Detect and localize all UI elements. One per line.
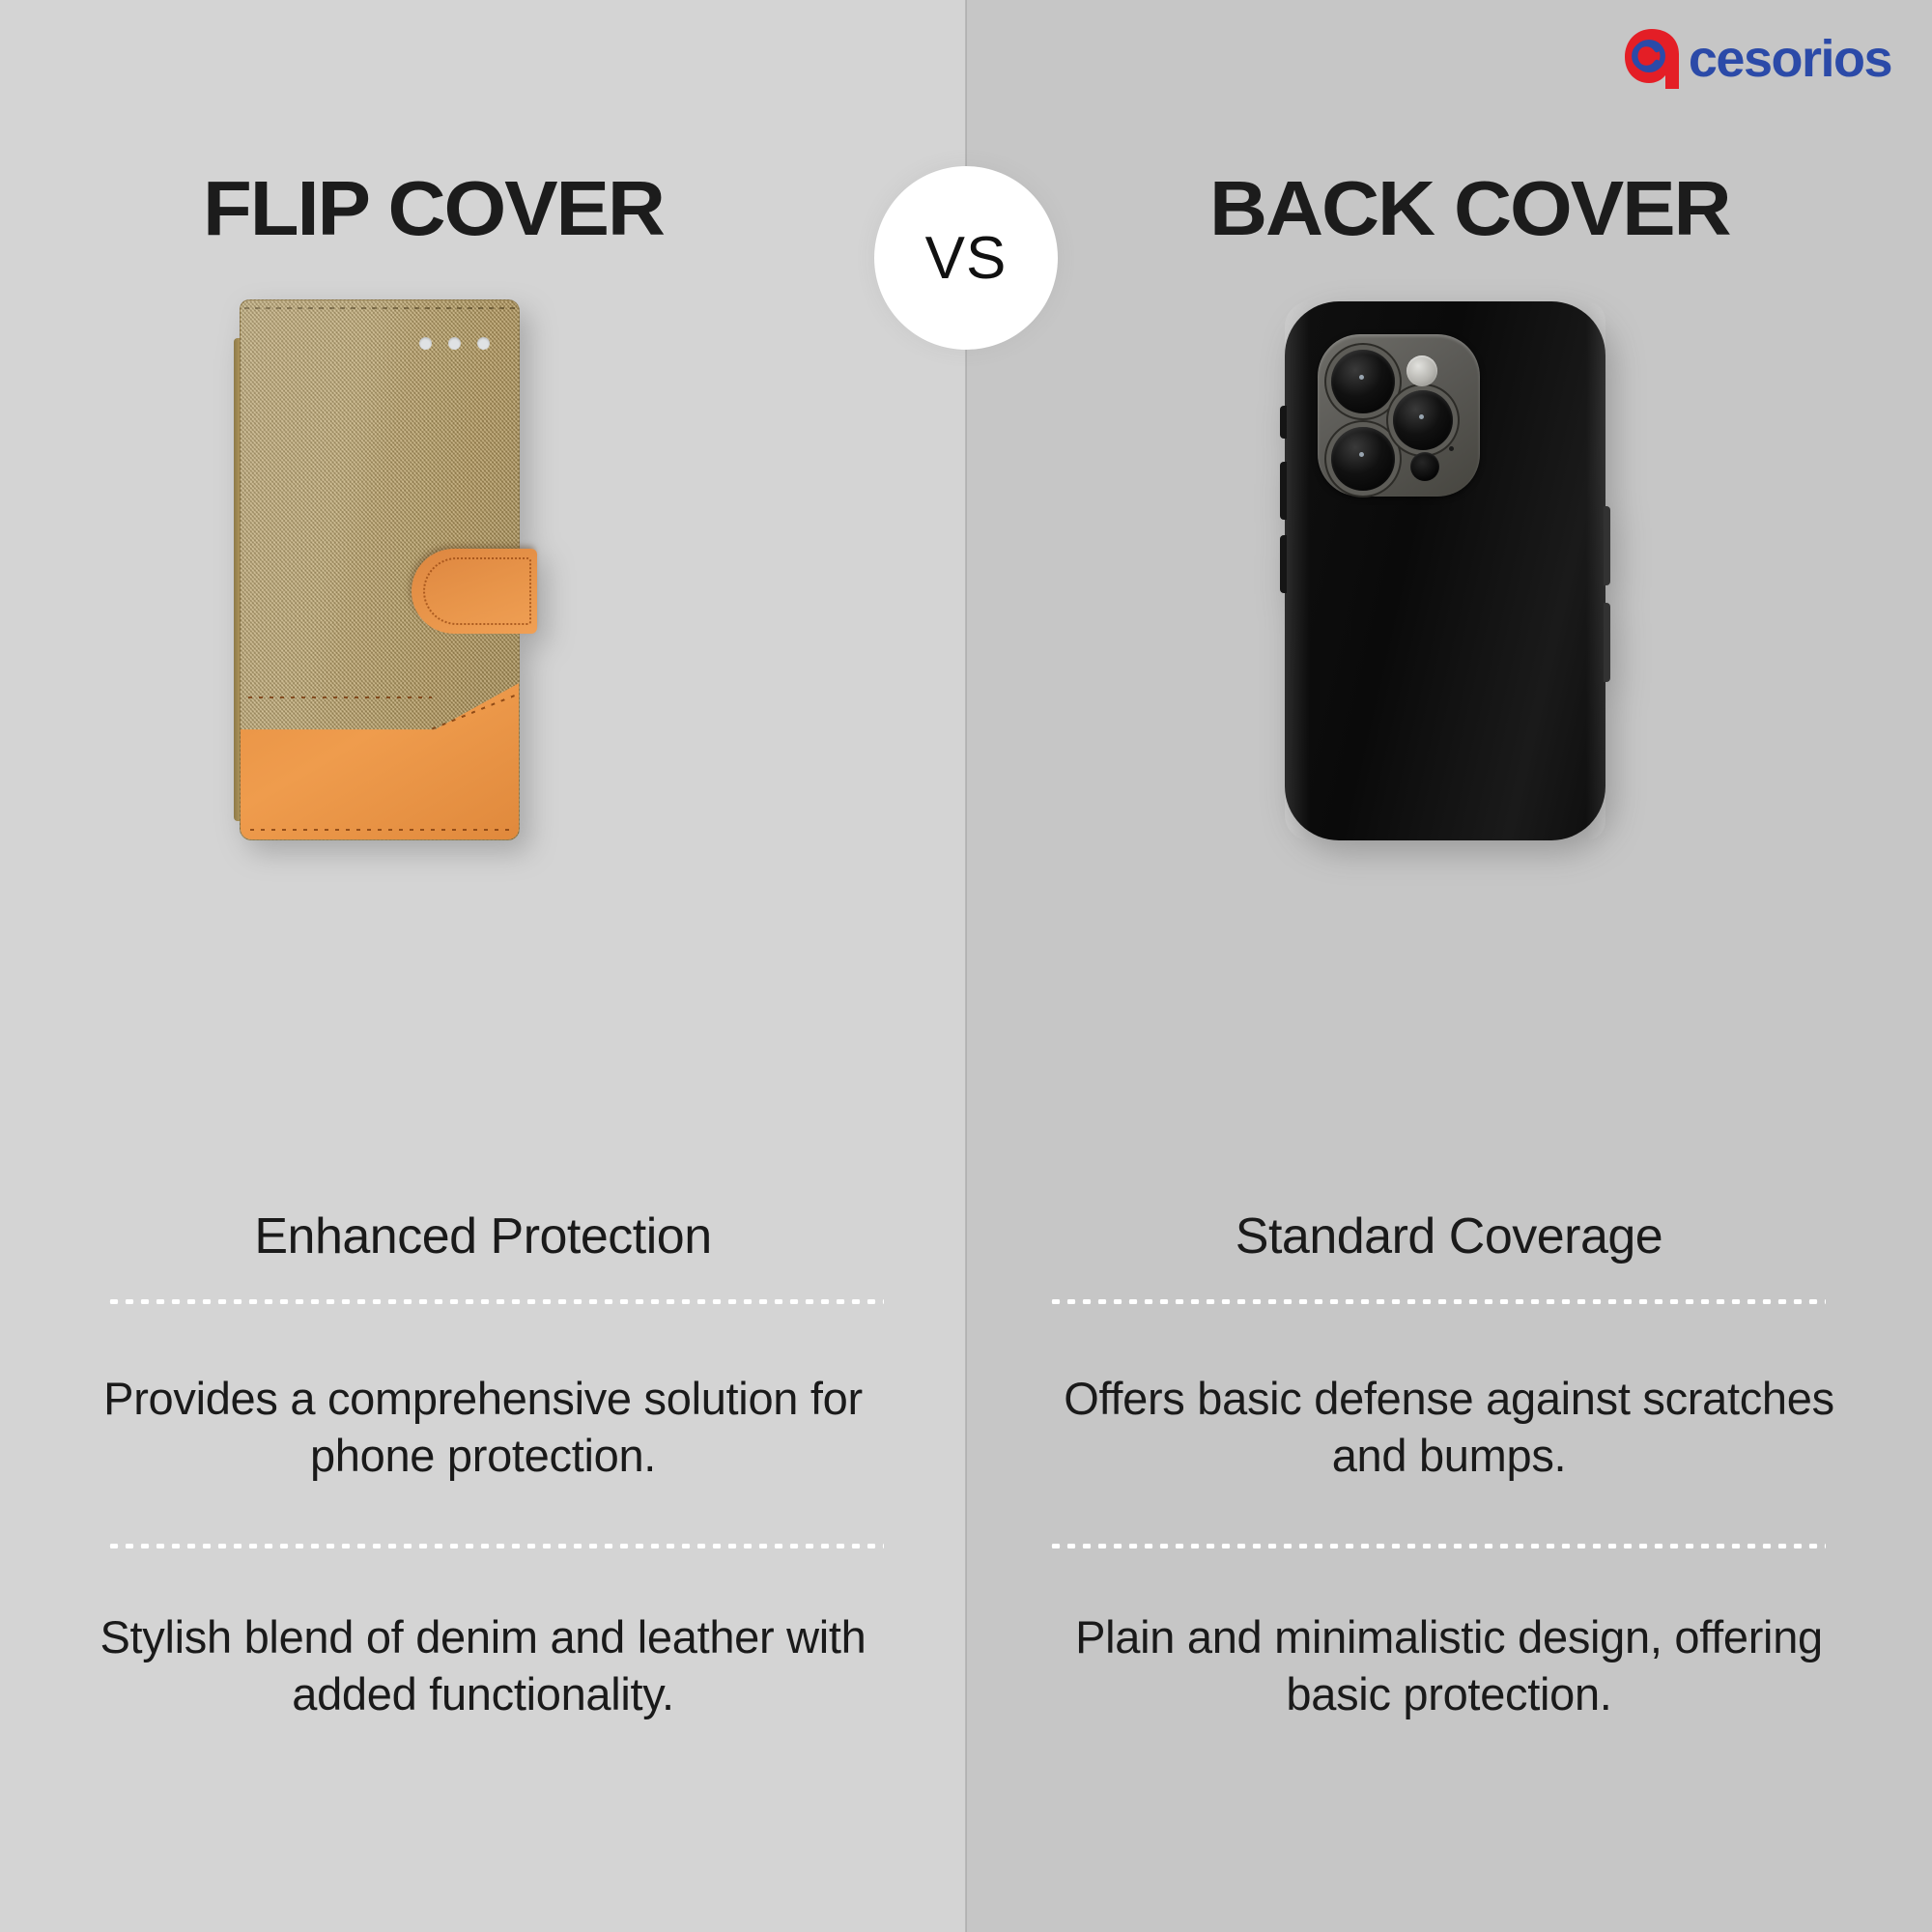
logo-a-mark-icon [1619, 25, 1687, 93]
back-cover-right-highlight [1586, 301, 1605, 840]
case-side-button-lower [1604, 603, 1610, 682]
back-cover-shell [1285, 301, 1605, 840]
feature-back-cover-1: Offers basic defense against scratches a… [1024, 1370, 1874, 1484]
feature-flip-cover-1: Provides a comprehensive solution for ph… [58, 1370, 908, 1484]
brand-logo[interactable]: cesorios [1619, 23, 1891, 95]
case-volume-down-button [1280, 535, 1287, 593]
divider-flip-cover-1 [106, 1299, 884, 1304]
microphone-dot-icon [1449, 446, 1454, 451]
subtitle-back-cover: Standard Coverage [966, 1207, 1932, 1265]
logo-wordmark: cesorios [1689, 33, 1891, 85]
camera-flash-icon [1406, 355, 1437, 386]
vs-badge-label: VS [925, 224, 1008, 293]
column-heading-back-cover: BACK COVER [1209, 164, 1730, 253]
back-cover-left-highlight [1285, 301, 1310, 840]
flip-cover-seam-stitching [248, 696, 432, 698]
column-heading-flip-cover: FLIP COVER [203, 164, 664, 253]
feature-flip-cover-2: Stylish blend of denim and leather with … [58, 1608, 908, 1722]
subtitle-flip-cover: Enhanced Protection [0, 1207, 966, 1265]
case-mute-switch-cutout [1280, 406, 1287, 439]
divider-flip-cover-2 [106, 1544, 884, 1548]
case-side-button-upper [1604, 506, 1610, 585]
product-image-back-cover [1285, 301, 1605, 840]
divider-back-cover-2 [1048, 1544, 1826, 1548]
lidar-sensor-icon [1410, 452, 1439, 481]
camera-lens-wide-icon [1331, 350, 1395, 413]
camera-module-plate [1318, 334, 1480, 497]
infographic-canvas: cesorios FLIP COVER BACK COVER VS [0, 0, 1932, 1932]
flip-cover-magnetic-strap [412, 549, 537, 634]
vs-badge: VS [874, 166, 1058, 350]
camera-lens-ultrawide-icon [1331, 427, 1395, 491]
case-volume-up-button [1280, 462, 1287, 520]
camera-lens-telephoto-icon [1393, 390, 1453, 450]
product-image-flip-cover [240, 299, 520, 840]
feature-back-cover-2: Plain and minimalistic design, offering … [1024, 1608, 1874, 1722]
divider-back-cover-1 [1048, 1299, 1826, 1304]
